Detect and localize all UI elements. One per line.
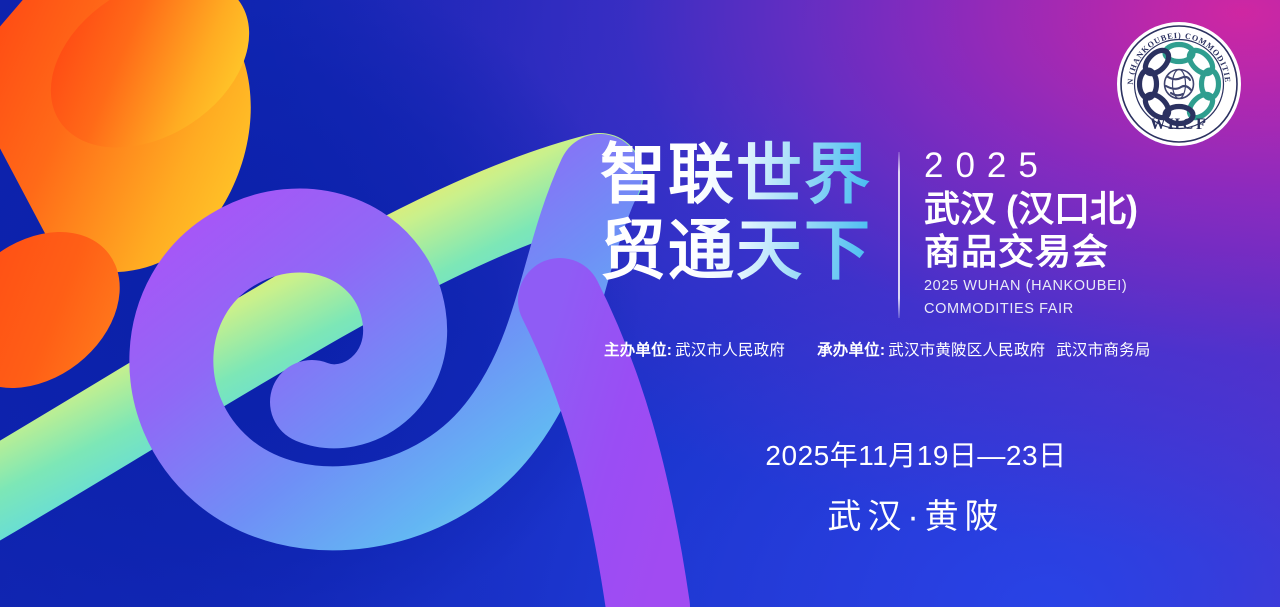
coorganizer-label: 承办单位:	[817, 338, 885, 360]
event-place: 武汉·黄陂	[596, 489, 1236, 538]
host-organizer: 主办单位: 武汉市人民政府	[604, 338, 785, 360]
host-organizer-value: 武汉市人民政府	[675, 338, 785, 360]
headline-divider	[898, 152, 900, 318]
coorganizer-value-1: 武汉市黄陂区人民政府	[888, 338, 1045, 360]
organizers-line: 主办单位: 武汉市人民政府 承办单位: 武汉市黄陂区人民政府 武汉市商务局	[604, 338, 1150, 360]
fair-year: 2025	[924, 146, 1138, 185]
headline-lines: 智联世界 贸通天下	[600, 140, 872, 286]
fair-title-block: 2025 武汉 (汉口北) 商品交易会 2025 WUHAN (HANKOUBE…	[924, 140, 1138, 319]
coorganizer: 承办单位: 武汉市黄陂区人民政府 武汉市商务局	[817, 338, 1150, 360]
headline-line-2: 贸通天下	[600, 216, 872, 286]
abstract-ribbon-svg	[0, 0, 700, 607]
headline-line-1: 智联世界	[600, 140, 872, 210]
decorative-artwork	[0, 0, 700, 607]
host-organizer-label: 主办单位:	[604, 338, 672, 360]
fair-english-line-2: COMMODITIES FAIR	[924, 301, 1138, 319]
promo-banner: WUHAN (HANKOUBEI) COMMODITIES FAIR WHCF …	[0, 0, 1280, 607]
content-column: 智联世界 贸通天下 2025 武汉 (汉口北) 商品交易会 2025 WUHAN…	[596, 0, 1280, 607]
fair-english-line-1: 2025 WUHAN (HANKOUBEI)	[924, 278, 1138, 296]
headline-block: 智联世界 贸通天下 2025 武汉 (汉口北) 商品交易会 2025 WUHAN…	[600, 140, 1138, 319]
fair-kind: 商品交易会	[924, 231, 1138, 273]
fair-city: 武汉 (汉口北)	[924, 187, 1138, 230]
coorganizer-value-2: 武汉市商务局	[1056, 338, 1150, 360]
event-date: 2025年11月19日—23日	[596, 434, 1236, 474]
